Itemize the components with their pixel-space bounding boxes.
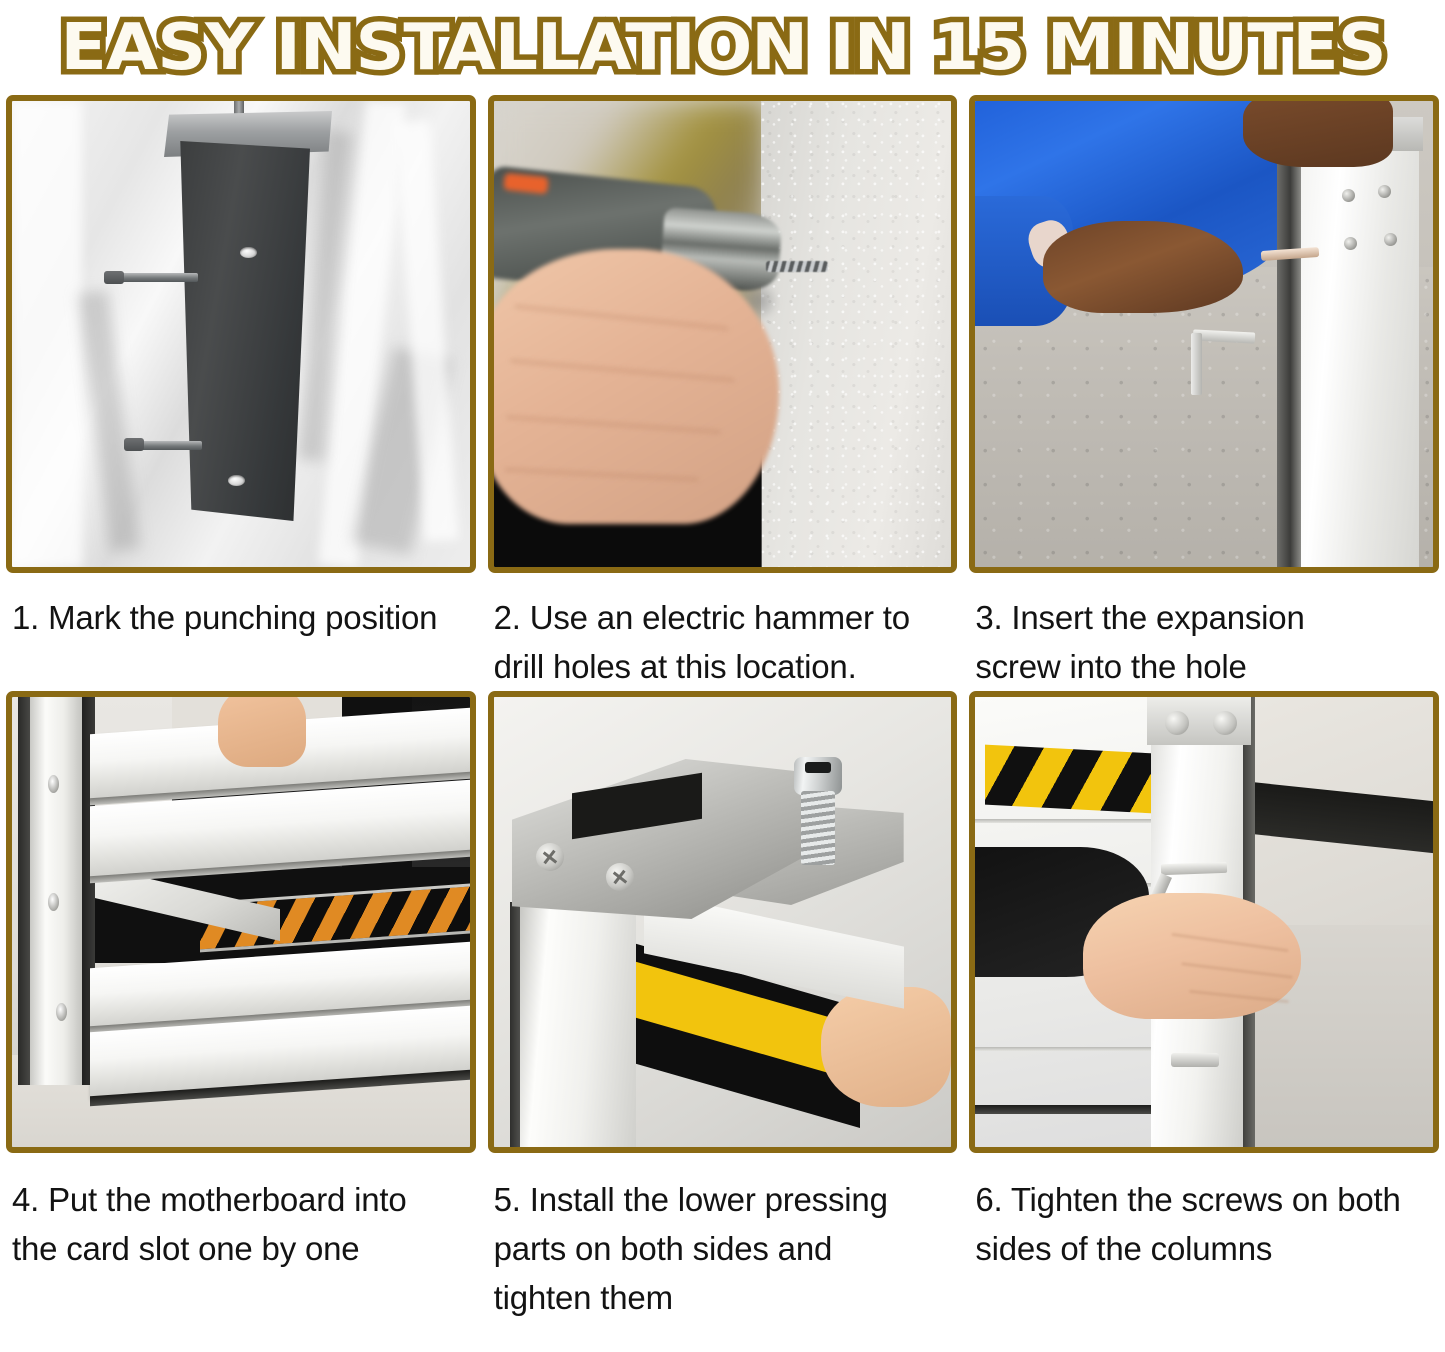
step-3-photo-insert-expansion-screw (975, 101, 1433, 567)
lower-bolt (1171, 1053, 1219, 1067)
step-6-photo-tighten-screws (975, 697, 1433, 1147)
steps-row-top: 1. Mark the punching position 2. Use an … (0, 95, 1445, 691)
post-face (30, 697, 82, 1085)
step-5-photo-lower-pressing-parts (494, 697, 952, 1147)
step-card-1: 1. Mark the punching position (6, 95, 476, 691)
white-column (1301, 123, 1419, 567)
step-6-photo-frame (969, 691, 1439, 1153)
page-title: EASY INSTALLATION IN 15 MINUTES (60, 16, 1385, 80)
hand-holding-drill (494, 249, 779, 524)
step-1-caption: 1. Mark the punching position (6, 573, 476, 642)
worker-forearm (1043, 221, 1243, 313)
post-screw-2 (48, 893, 59, 911)
step-4-photo-insert-boards (12, 697, 470, 1147)
post-screw-1 (48, 775, 59, 793)
step-card-4: 4. Put the motherboard into the card slo… (6, 691, 476, 1322)
side-bolt-lower-head (124, 438, 144, 451)
step-card-6: 6. Tighten the screws on both sides of t… (969, 691, 1439, 1322)
step-2-caption: 2. Use an electric hammer to drill holes… (488, 573, 958, 691)
column-shadow-edge (1277, 131, 1301, 567)
column-screw-3 (1384, 233, 1397, 246)
step-1-photo-mark-punching-position (12, 101, 470, 567)
bolt-thread (801, 791, 835, 865)
bolt-hex-socket (805, 762, 831, 773)
step-4-caption: 4. Put the motherboard into the card slo… (6, 1153, 476, 1273)
step-4-photo-frame (6, 691, 476, 1153)
step-3-photo-frame (969, 95, 1439, 573)
step-card-2: 2. Use an electric hammer to drill holes… (488, 95, 958, 691)
drill-bit (766, 261, 828, 272)
bracket-screw-2 (606, 863, 634, 891)
step-card-3: 3. Insert the expansion screw into the h… (969, 95, 1439, 691)
step-1-photo-frame (6, 95, 476, 573)
title-banner: EASY INSTALLATION IN 15 MINUTES (0, 0, 1445, 95)
bolt-head (794, 757, 842, 795)
step-2-photo-frame (488, 95, 958, 573)
post-hole-upper (240, 247, 257, 258)
post-body (520, 902, 636, 1147)
hazard-stripe (985, 745, 1153, 814)
column-screw-1 (1378, 185, 1391, 198)
fence-post (172, 141, 310, 521)
side-bolt-upper-head (104, 271, 124, 284)
column-screw-4 (1344, 237, 1357, 250)
step-6-caption: 6. Tighten the screws on both sides of t… (969, 1153, 1439, 1273)
steps-row-bottom: 4. Put the motherboard into the card slo… (0, 691, 1445, 1322)
step-5-photo-frame (488, 691, 958, 1153)
hex-socket-bolt (794, 757, 842, 865)
step-5-caption: 5. Install the lower pressing parts on b… (488, 1153, 958, 1322)
post-hole-lower (228, 475, 245, 486)
hand-placing-board (218, 697, 306, 767)
step-3-caption: 3. Insert the expansion screw into the h… (969, 573, 1439, 691)
step-card-5: 5. Install the lower pressing parts on b… (488, 691, 958, 1322)
step-2-photo-drill-holes (494, 101, 952, 567)
upper-hand (1243, 101, 1393, 167)
white-wall (761, 101, 951, 567)
allen-key-long-arm (1161, 862, 1227, 875)
bracket-screw-1 (536, 843, 564, 871)
column-screw-2 (1342, 189, 1355, 202)
post-screw-3 (56, 1003, 67, 1021)
allen-key-short-arm (1191, 333, 1202, 395)
